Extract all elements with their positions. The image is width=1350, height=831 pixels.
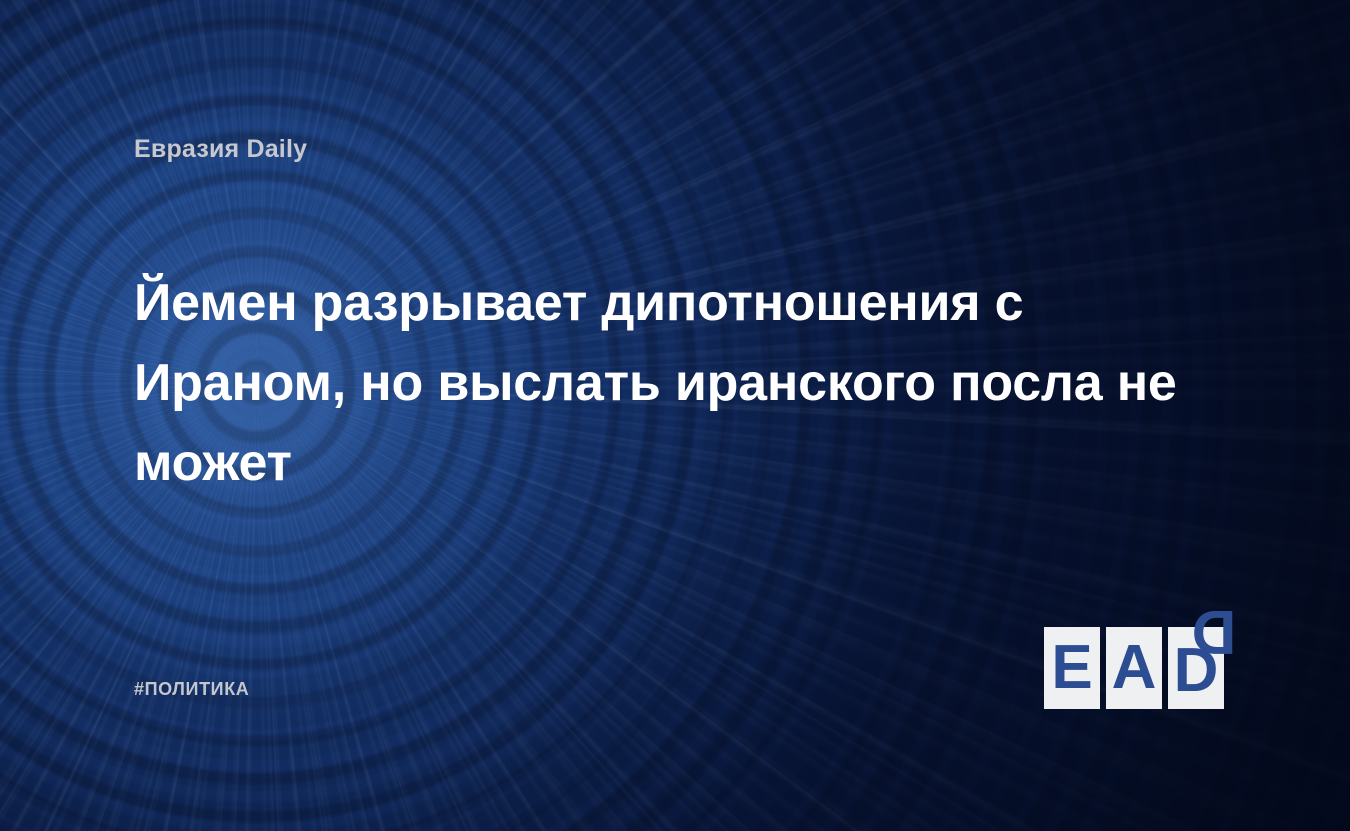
eadaily-logo[interactable]: D E A D (1044, 627, 1224, 709)
logo-letter-d-text: D (1174, 647, 1219, 695)
category-tag-politics[interactable]: #ПОЛИТИКА (134, 679, 249, 700)
card-content: Евразия Daily Йемен разрывает дипотношен… (0, 0, 1350, 831)
news-share-card: Евразия Daily Йемен разрывает дипотношен… (0, 0, 1350, 831)
logo-letter-e: E (1044, 627, 1100, 709)
brand-name: Евразия Daily (134, 135, 307, 164)
page-title: Йемен разрывает дипотношения с Ираном, н… (134, 263, 1204, 503)
logo-letter-a: A (1106, 627, 1162, 709)
logo-letter-d: D (1168, 647, 1224, 709)
